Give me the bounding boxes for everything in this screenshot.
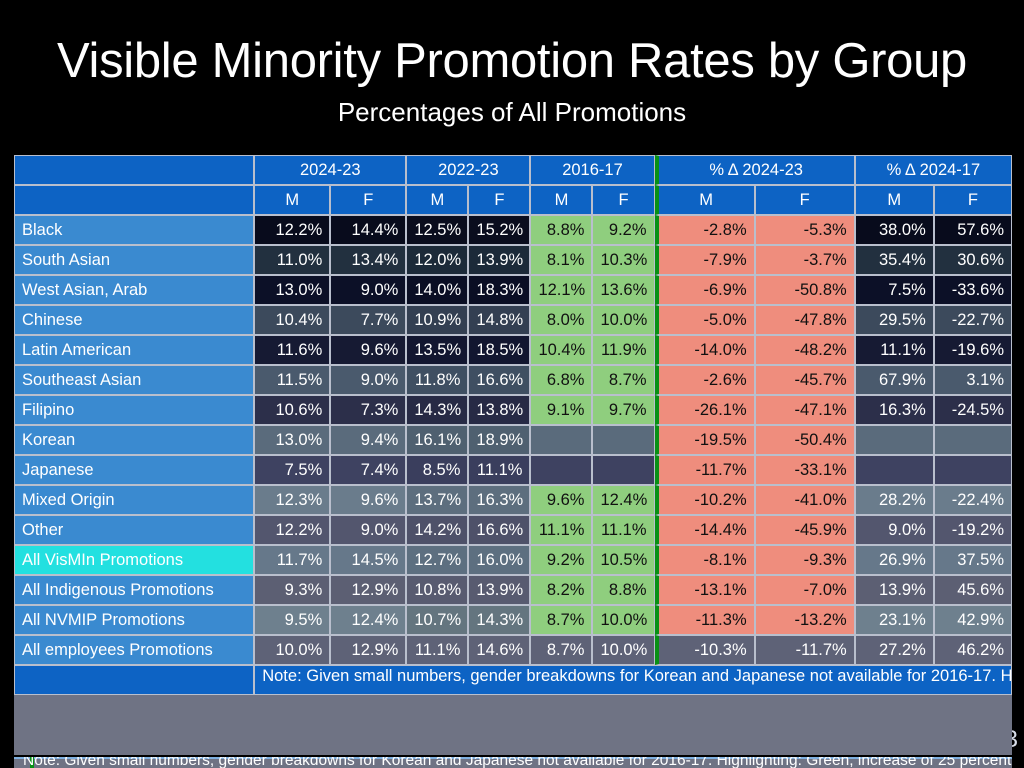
cell-2022-23-f: 18.3%: [468, 275, 530, 305]
cell-2024-23-f: 14.5%: [330, 545, 406, 575]
cell-delta-2024-17-m: 67.9%: [855, 365, 934, 395]
cell-2022-23-m: 11.1%: [406, 635, 468, 665]
cell-2022-23-m: 10.8%: [406, 575, 468, 605]
cell-2016-17-f: 8.8%: [592, 575, 654, 605]
cell-2022-23-m: 8.5%: [406, 455, 468, 485]
cell-delta-2024-23-f: -11.7%: [755, 635, 855, 665]
cell-2022-23-f: 16.3%: [468, 485, 530, 515]
cell-2022-23-m: 11.8%: [406, 365, 468, 395]
cell-2016-17-m: 6.8%: [530, 365, 592, 395]
sub-header-2024-23-m: M: [254, 185, 330, 215]
cell-2016-17-m: [530, 455, 592, 485]
cell-delta-2024-23-m: -5.0%: [655, 305, 755, 335]
cell-2016-17-f: 10.5%: [592, 545, 654, 575]
cell-delta-2024-23-f: -45.9%: [755, 515, 855, 545]
row-label: Japanese: [14, 455, 254, 485]
table-row: Other12.2%9.0%14.2%16.6%11.1%11.1%-14.4%…: [14, 515, 1012, 545]
cell-delta-2024-17-m: 11.1%: [855, 335, 934, 365]
cell-2022-23-m: 13.5%: [406, 335, 468, 365]
table-row: All NVMIP Promotions9.5%12.4%10.7%14.3%8…: [14, 605, 1012, 635]
cell-delta-2024-17-m: 26.9%: [855, 545, 934, 575]
cell-delta-2024-17-f: [934, 455, 1012, 485]
cell-2016-17-m: 10.4%: [530, 335, 592, 365]
cell-delta-2024-17-f: 37.5%: [934, 545, 1012, 575]
cell-delta-2024-23-m: -19.5%: [655, 425, 755, 455]
group-header-delta-2024-23: % Δ 2024-23: [655, 155, 855, 185]
cell-2022-23-m: 12.0%: [406, 245, 468, 275]
cell-2022-23-f: 13.8%: [468, 395, 530, 425]
note-row: Note: Given small numbers, gender breakd…: [14, 665, 1012, 695]
cell-2022-23-m: 12.7%: [406, 545, 468, 575]
cell-delta-2024-23-f: -41.0%: [755, 485, 855, 515]
cell-delta-2024-17-f: 30.6%: [934, 245, 1012, 275]
data-grid: 2024-23 2022-23 2016-17 % Δ 2024-23 % Δ …: [14, 155, 1012, 695]
page-subtitle: Percentages of All Promotions: [0, 98, 1024, 127]
table-row: Korean13.0%9.4%16.1%18.9%-19.5%-50.4%: [14, 425, 1012, 455]
cell-delta-2024-17-f: 57.6%: [934, 215, 1012, 245]
cell-2022-23-m: 10.7%: [406, 605, 468, 635]
cell-delta-2024-23-m: -6.9%: [655, 275, 755, 305]
cell-delta-2024-17-m: 35.4%: [855, 245, 934, 275]
cell-delta-2024-17-m: 27.2%: [855, 635, 934, 665]
row-label: Other: [14, 515, 254, 545]
table-row: Southeast Asian11.5%9.0%11.8%16.6%6.8%8.…: [14, 365, 1012, 395]
cell-2022-23-f: 16.6%: [468, 515, 530, 545]
cell-delta-2024-23-f: -50.4%: [755, 425, 855, 455]
cell-delta-2024-23-m: -2.6%: [655, 365, 755, 395]
table-row: All Indigenous Promotions9.3%12.9%10.8%1…: [14, 575, 1012, 605]
cell-delta-2024-17-f: -22.7%: [934, 305, 1012, 335]
row-label: Black: [14, 215, 254, 245]
cell-delta-2024-17-m: 29.5%: [855, 305, 934, 335]
cell-delta-2024-17-m: 16.3%: [855, 395, 934, 425]
cell-2016-17-f: [592, 455, 654, 485]
table-body: Black12.2%14.4%12.5%15.2%8.8%9.2%-2.8%-5…: [14, 215, 1012, 665]
cell-2024-23-m: 9.5%: [254, 605, 330, 635]
cell-2022-23-f: 16.0%: [468, 545, 530, 575]
sub-header-2022-23-f: F: [468, 185, 530, 215]
cell-2022-23-m: 16.1%: [406, 425, 468, 455]
cell-2024-23-f: 9.0%: [330, 515, 406, 545]
row-label: South Asian: [14, 245, 254, 275]
sub-header-row: M F M F M F M F M F: [14, 185, 1012, 215]
cell-delta-2024-23-f: -50.8%: [755, 275, 855, 305]
table-head: 2024-23 2022-23 2016-17 % Δ 2024-23 % Δ …: [14, 155, 1012, 215]
table-row: Filipino10.6%7.3%14.3%13.8%9.1%9.7%-26.1…: [14, 395, 1012, 425]
cell-2016-17-f: 10.0%: [592, 605, 654, 635]
cell-delta-2024-23-f: -33.1%: [755, 455, 855, 485]
cell-2022-23-f: 18.5%: [468, 335, 530, 365]
cell-delta-2024-17-m: 23.1%: [855, 605, 934, 635]
table-row: Mixed Origin12.3%9.6%13.7%16.3%9.6%12.4%…: [14, 485, 1012, 515]
cell-2016-17-f: 8.7%: [592, 365, 654, 395]
cell-2024-23-f: 9.6%: [330, 485, 406, 515]
cell-2024-23-f: 13.4%: [330, 245, 406, 275]
cell-2024-23-m: 13.0%: [254, 425, 330, 455]
table-row: All employees Promotions10.0%12.9%11.1%1…: [14, 635, 1012, 665]
cell-2016-17-f: 13.6%: [592, 275, 654, 305]
cell-delta-2024-17-f: [934, 425, 1012, 455]
cell-2016-17-f: 11.9%: [592, 335, 654, 365]
cell-delta-2024-17-f: 3.1%: [934, 365, 1012, 395]
cell-2022-23-f: 18.9%: [468, 425, 530, 455]
cell-delta-2024-23-f: -48.2%: [755, 335, 855, 365]
cell-2016-17-f: 10.0%: [592, 635, 654, 665]
cell-2024-23-m: 10.4%: [254, 305, 330, 335]
sub-header-2016-17-m: M: [530, 185, 592, 215]
cell-2024-23-f: 9.0%: [330, 365, 406, 395]
cell-2016-17-m: 8.1%: [530, 245, 592, 275]
cell-delta-2024-23-f: -9.3%: [755, 545, 855, 575]
cell-2016-17-m: 12.1%: [530, 275, 592, 305]
cell-2024-23-m: 10.0%: [254, 635, 330, 665]
cell-2016-17-f: [592, 425, 654, 455]
cell-2016-17-m: [530, 425, 592, 455]
cell-2016-17-m: 8.2%: [530, 575, 592, 605]
cell-2024-23-m: 10.6%: [254, 395, 330, 425]
cell-delta-2024-23-m: -2.8%: [655, 215, 755, 245]
table-row: All VisMIn Promotions11.7%14.5%12.7%16.0…: [14, 545, 1012, 575]
cell-delta-2024-17-m: [855, 425, 934, 455]
cell-2016-17-f: 10.3%: [592, 245, 654, 275]
cell-delta-2024-17-f: -33.6%: [934, 275, 1012, 305]
cell-2024-23-m: 11.0%: [254, 245, 330, 275]
group-header-delta-2024-17: % Δ 2024-17: [855, 155, 1012, 185]
cell-2022-23-m: 14.2%: [406, 515, 468, 545]
group-header-2016-17: 2016-17: [530, 155, 654, 185]
page-title: Visible Minority Promotion Rates by Grou…: [0, 36, 1024, 87]
cell-2024-23-m: 11.5%: [254, 365, 330, 395]
cell-2024-23-m: 12.2%: [254, 215, 330, 245]
cell-delta-2024-17-f: 46.2%: [934, 635, 1012, 665]
cell-2024-23-f: 14.4%: [330, 215, 406, 245]
table-row: South Asian11.0%13.4%12.0%13.9%8.1%10.3%…: [14, 245, 1012, 275]
cell-2024-23-m: 12.2%: [254, 515, 330, 545]
cell-2016-17-f: 9.7%: [592, 395, 654, 425]
cell-delta-2024-17-m: 38.0%: [855, 215, 934, 245]
note-spacer: [14, 665, 254, 695]
sub-header-2022-23-m: M: [406, 185, 468, 215]
cell-delta-2024-23-f: -47.8%: [755, 305, 855, 335]
cell-delta-2024-17-f: -19.2%: [934, 515, 1012, 545]
cell-2024-23-f: 12.9%: [330, 635, 406, 665]
row-label: All VisMIn Promotions: [14, 545, 254, 575]
cell-delta-2024-17-m: 7.5%: [855, 275, 934, 305]
row-label: Southeast Asian: [14, 365, 254, 395]
cell-2016-17-m: 9.2%: [530, 545, 592, 575]
cell-2022-23-f: 16.6%: [468, 365, 530, 395]
cell-2022-23-f: 15.2%: [468, 215, 530, 245]
cell-delta-2024-17-f: 45.6%: [934, 575, 1012, 605]
cut-off-note-text: Note: Given small numbers, gender breakd…: [14, 757, 1012, 768]
cell-2024-23-f: 9.6%: [330, 335, 406, 365]
cell-delta-2024-23-m: -14.0%: [655, 335, 755, 365]
cell-delta-2024-17-f: -19.6%: [934, 335, 1012, 365]
cell-delta-2024-23-f: -3.7%: [755, 245, 855, 275]
cell-delta-2024-23-m: -10.3%: [655, 635, 755, 665]
table-row: Black12.2%14.4%12.5%15.2%8.8%9.2%-2.8%-5…: [14, 215, 1012, 245]
sub-header-delta-2024-23-m: M: [655, 185, 755, 215]
row-label: Chinese: [14, 305, 254, 335]
cell-2024-23-m: 12.3%: [254, 485, 330, 515]
cell-2016-17-f: 11.1%: [592, 515, 654, 545]
cell-delta-2024-23-f: -45.7%: [755, 365, 855, 395]
sub-header-2024-23-f: F: [330, 185, 406, 215]
cell-2016-17-m: 8.7%: [530, 605, 592, 635]
row-label: All NVMIP Promotions: [14, 605, 254, 635]
slide: Visible Minority Promotion Rates by Grou…: [0, 0, 1024, 768]
cell-2024-23-f: 12.4%: [330, 605, 406, 635]
cell-2024-23-f: 7.7%: [330, 305, 406, 335]
cell-2022-23-f: 14.3%: [468, 605, 530, 635]
cell-2016-17-m: 9.6%: [530, 485, 592, 515]
sub-header-2016-17-f: F: [592, 185, 654, 215]
cell-delta-2024-23-m: -11.7%: [655, 455, 755, 485]
cell-2022-23-f: 13.9%: [468, 245, 530, 275]
row-label: Korean: [14, 425, 254, 455]
cell-2022-23-f: 11.1%: [468, 455, 530, 485]
cell-delta-2024-23-m: -26.1%: [655, 395, 755, 425]
cell-delta-2024-17-f: -24.5%: [934, 395, 1012, 425]
cell-2024-23-f: 12.9%: [330, 575, 406, 605]
sub-header-delta-2024-17-m: M: [855, 185, 934, 215]
cell-2024-23-m: 11.7%: [254, 545, 330, 575]
cell-2022-23-m: 14.0%: [406, 275, 468, 305]
cell-2016-17-m: 8.0%: [530, 305, 592, 335]
promotion-rates-table: 2024-23 2022-23 2016-17 % Δ 2024-23 % Δ …: [14, 155, 1012, 755]
cell-delta-2024-23-f: -7.0%: [755, 575, 855, 605]
cell-2022-23-m: 13.7%: [406, 485, 468, 515]
cell-2024-23-f: 9.0%: [330, 275, 406, 305]
cell-2022-23-f: 14.6%: [468, 635, 530, 665]
row-label: Filipino: [14, 395, 254, 425]
cell-2016-17-f: 10.0%: [592, 305, 654, 335]
cell-2024-23-m: 11.6%: [254, 335, 330, 365]
cell-2016-17-m: 8.8%: [530, 215, 592, 245]
group-header-2022-23: 2022-23: [406, 155, 530, 185]
group-header-2024-23: 2024-23: [254, 155, 406, 185]
row-label: All Indigenous Promotions: [14, 575, 254, 605]
sub-header-delta-2024-23-f: F: [755, 185, 855, 215]
row-label: West Asian, Arab: [14, 275, 254, 305]
cell-2022-23-m: 10.9%: [406, 305, 468, 335]
table-row: Japanese7.5%7.4%8.5%11.1%-11.7%-33.1%: [14, 455, 1012, 485]
table-note: Note: Given small numbers, gender breakd…: [254, 665, 1012, 695]
cell-2024-23-f: 7.3%: [330, 395, 406, 425]
group-header-row: 2024-23 2022-23 2016-17 % Δ 2024-23 % Δ …: [14, 155, 1012, 185]
cell-2022-23-m: 12.5%: [406, 215, 468, 245]
cell-delta-2024-23-f: -13.2%: [755, 605, 855, 635]
cell-2022-23-m: 14.3%: [406, 395, 468, 425]
cell-2024-23-f: 9.4%: [330, 425, 406, 455]
cell-2022-23-f: 13.9%: [468, 575, 530, 605]
cell-delta-2024-17-f: -22.4%: [934, 485, 1012, 515]
table-row: West Asian, Arab13.0%9.0%14.0%18.3%12.1%…: [14, 275, 1012, 305]
table-foot: Note: Given small numbers, gender breakd…: [14, 665, 1012, 695]
cell-2016-17-m: 11.1%: [530, 515, 592, 545]
cell-2024-23-m: 9.3%: [254, 575, 330, 605]
cell-2016-17-m: 8.7%: [530, 635, 592, 665]
cell-2024-23-f: 7.4%: [330, 455, 406, 485]
cell-2024-23-m: 13.0%: [254, 275, 330, 305]
cell-delta-2024-17-m: 9.0%: [855, 515, 934, 545]
row-label: Mixed Origin: [14, 485, 254, 515]
cell-2016-17-f: 12.4%: [592, 485, 654, 515]
cell-delta-2024-23-m: -14.4%: [655, 515, 755, 545]
cell-delta-2024-23-m: -10.2%: [655, 485, 755, 515]
cell-delta-2024-17-m: [855, 455, 934, 485]
cell-2024-23-m: 7.5%: [254, 455, 330, 485]
cell-delta-2024-23-m: -8.1%: [655, 545, 755, 575]
cut-off-note-overflow: Note: Given small numbers, gender breakd…: [14, 757, 1012, 768]
cell-delta-2024-23-f: -47.1%: [755, 395, 855, 425]
row-label: Latin American: [14, 335, 254, 365]
cell-delta-2024-17-f: 42.9%: [934, 605, 1012, 635]
cell-delta-2024-17-m: 13.9%: [855, 575, 934, 605]
table-row: Chinese10.4%7.7%10.9%14.8%8.0%10.0%-5.0%…: [14, 305, 1012, 335]
row-label: All employees Promotions: [14, 635, 254, 665]
sub-header-delta-2024-17-f: F: [934, 185, 1012, 215]
cell-delta-2024-23-m: -11.3%: [655, 605, 755, 635]
cell-2016-17-m: 9.1%: [530, 395, 592, 425]
cell-delta-2024-23-f: -5.3%: [755, 215, 855, 245]
cell-delta-2024-17-m: 28.2%: [855, 485, 934, 515]
corner-cell: [14, 155, 254, 185]
cell-delta-2024-23-m: -13.1%: [655, 575, 755, 605]
table-row: Latin American11.6%9.6%13.5%18.5%10.4%11…: [14, 335, 1012, 365]
cell-2016-17-f: 9.2%: [592, 215, 654, 245]
cell-2022-23-f: 14.8%: [468, 305, 530, 335]
cell-delta-2024-23-m: -7.9%: [655, 245, 755, 275]
sub-header-corner: [14, 185, 254, 215]
